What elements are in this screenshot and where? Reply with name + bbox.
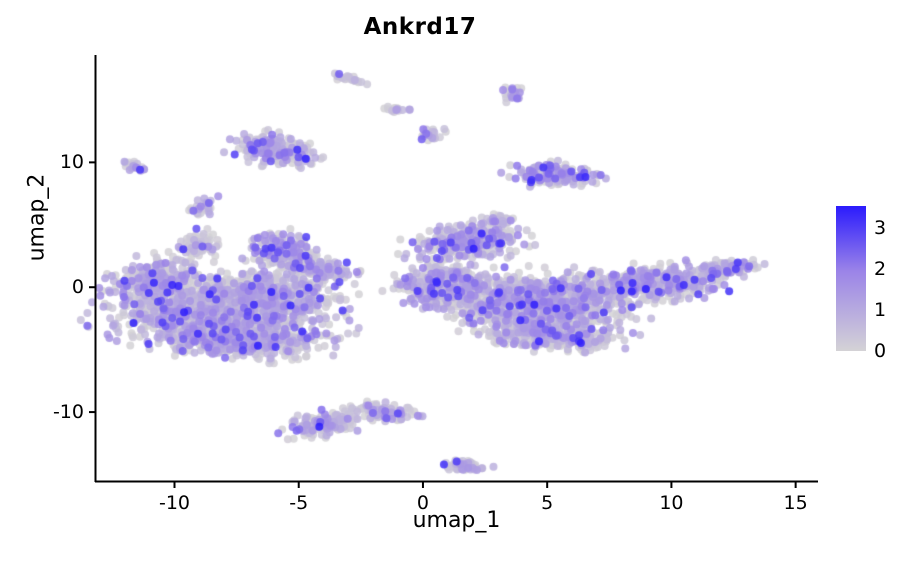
colorbar-gradient bbox=[836, 206, 866, 351]
x-axis-title: umap_1 bbox=[95, 508, 818, 533]
colorbar: 0123 bbox=[836, 206, 866, 351]
y-tick-label: -10 bbox=[53, 401, 84, 423]
umap-feature-plot: Ankrd17 -10-5051015 -10010 umap_1 umap_2… bbox=[0, 0, 911, 562]
y-axis-title: umap_2 bbox=[25, 138, 50, 298]
colorbar-tick-label: 1 bbox=[874, 299, 886, 321]
y-tick-label: 10 bbox=[60, 151, 84, 173]
colorbar-tick-label: 2 bbox=[874, 258, 886, 280]
colorbar-tick-label: 0 bbox=[874, 340, 886, 362]
colorbar-tick-label: 3 bbox=[874, 217, 886, 239]
y-tick-label: 0 bbox=[72, 276, 84, 298]
scatter-plot-canvas bbox=[0, 0, 911, 562]
